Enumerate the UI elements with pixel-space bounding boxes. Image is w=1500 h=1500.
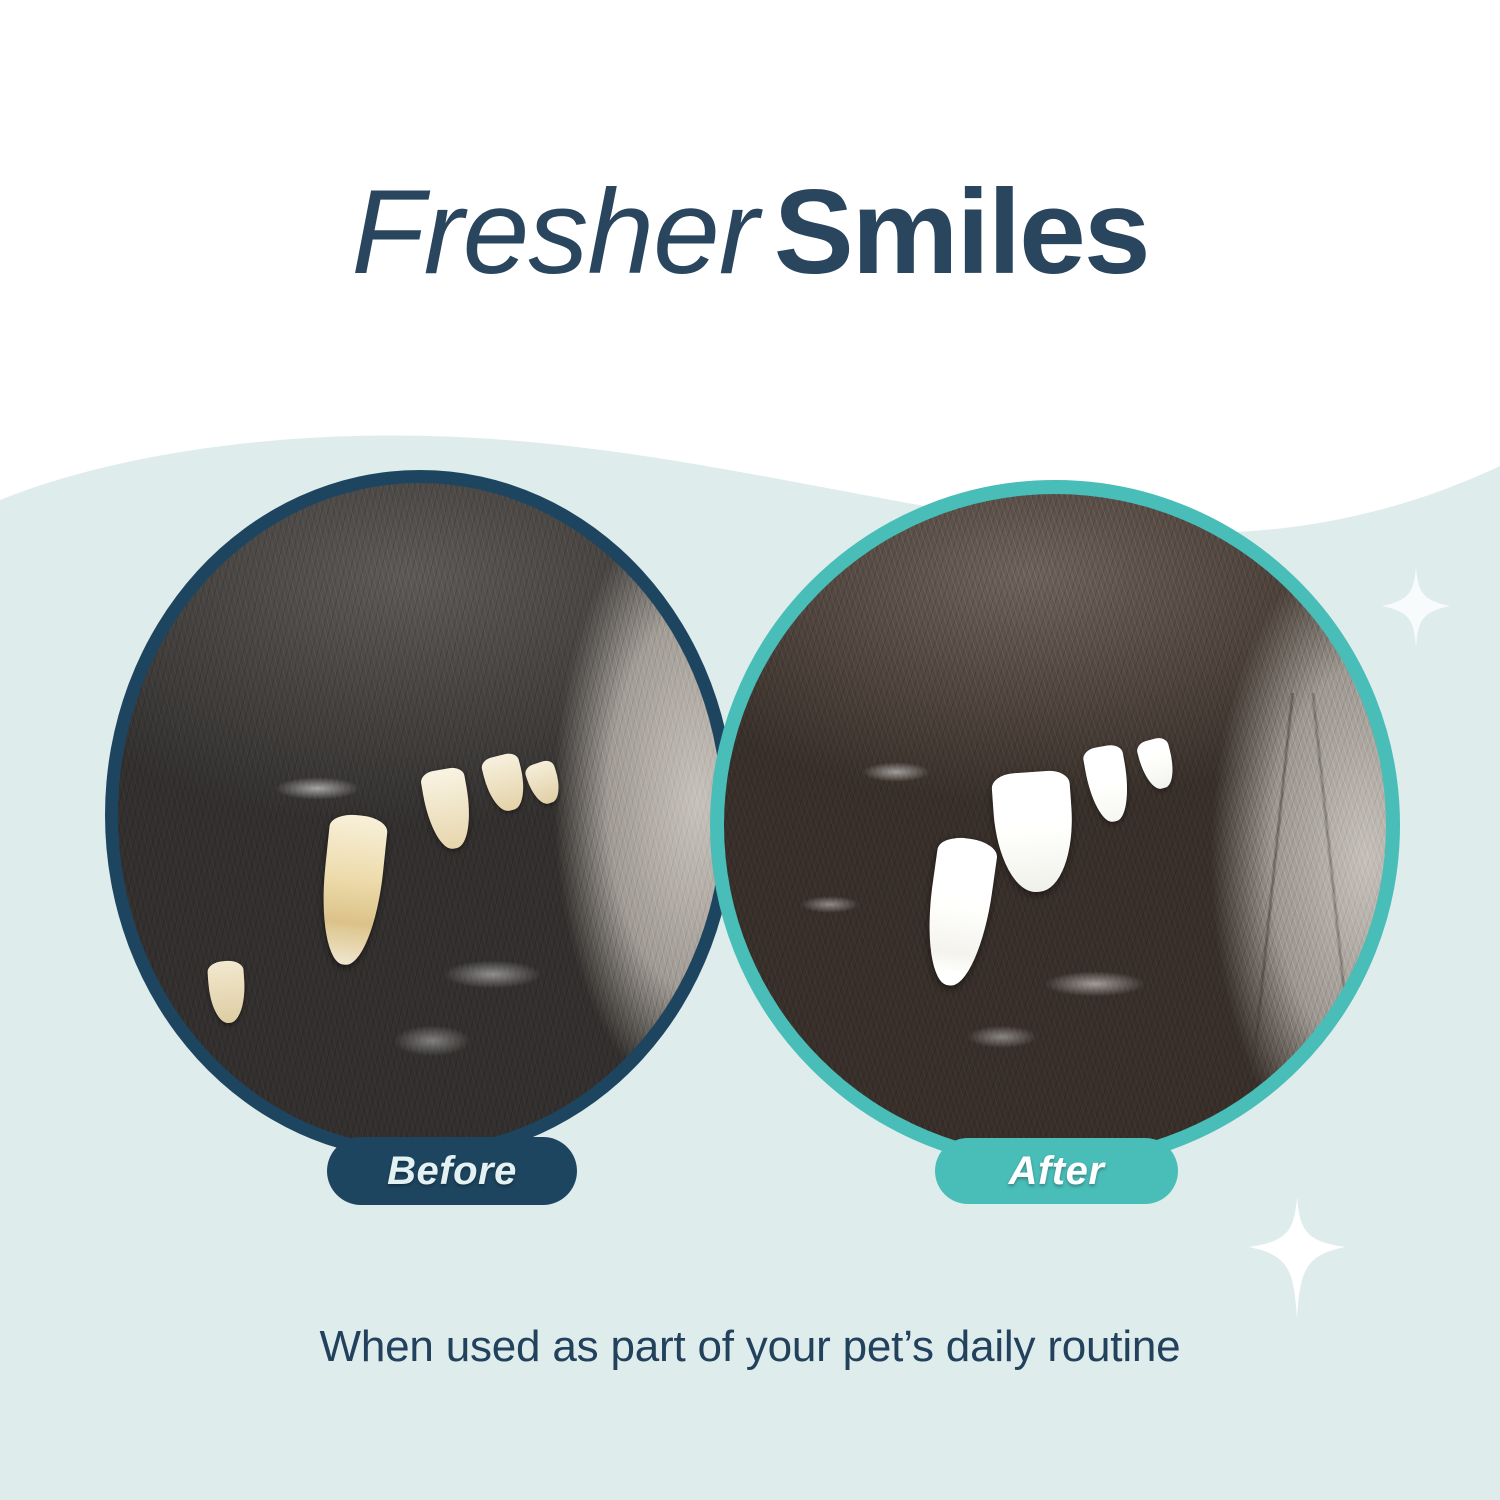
before-label-badge: Before <box>327 1137 577 1205</box>
before-photo-image <box>118 483 722 1147</box>
after-photo-clip <box>724 494 1386 1156</box>
sparkle-icon-large <box>1249 1197 1345 1319</box>
after-label-badge: After <box>935 1138 1178 1204</box>
before-photo-circle <box>105 470 735 1160</box>
after-photo-sheen <box>724 494 1386 1156</box>
after-label-text: After <box>1009 1149 1105 1194</box>
before-label-text: Before <box>387 1149 517 1194</box>
sparkle-icon-small <box>1382 566 1450 648</box>
after-photo-image <box>724 494 1386 1156</box>
before-photo-sheen <box>118 483 722 1147</box>
after-photo-circle <box>710 480 1400 1170</box>
before-photo-clip <box>118 483 722 1147</box>
usage-caption: When used as part of your pet’s daily ro… <box>0 1322 1500 1372</box>
